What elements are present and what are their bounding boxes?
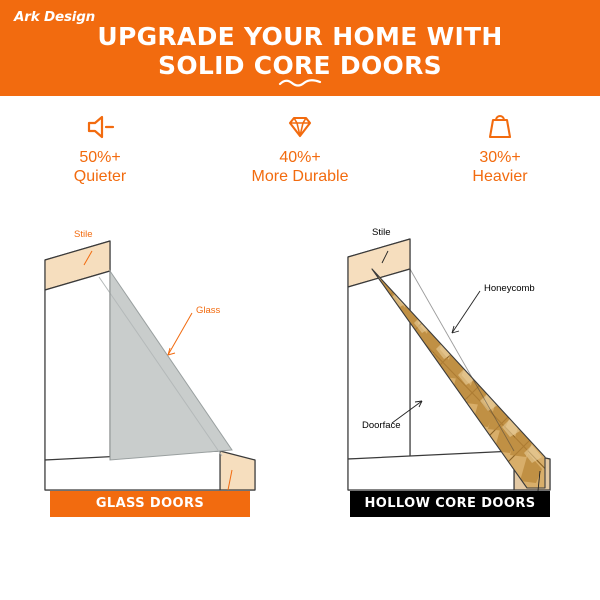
feature-heavier-value: 30%+	[400, 148, 600, 167]
weight-icon	[400, 110, 600, 144]
feature-quieter: 50%+ Quieter	[0, 110, 200, 200]
feature-durable-value: 40%+	[200, 148, 400, 167]
glass-door-caption: GLASS DOORS	[50, 491, 250, 517]
feature-quieter-value: 50%+	[0, 148, 200, 167]
feature-heavier-text: 30%+ Heavier	[400, 148, 600, 186]
wave-divider-icon	[278, 78, 322, 88]
page-header: Ark Design UPGRADE YOUR HOME WITH SOLID …	[0, 0, 600, 96]
speaker-mute-icon	[0, 110, 200, 144]
feature-quieter-label: Quieter	[0, 167, 200, 186]
feature-quieter-text: 50%+ Quieter	[0, 148, 200, 186]
feature-list: 50%+ Quieter 40%+ More Durable 30%+ Heav…	[0, 110, 600, 200]
headline-line-1: UPGRADE YOUR HOME WITH	[97, 22, 502, 51]
feature-heavier: 30%+ Heavier	[400, 110, 600, 200]
page-title: UPGRADE YOUR HOME WITH SOLID CORE DOORS	[0, 22, 600, 80]
label-stile-hollow: Stile	[372, 227, 390, 238]
hollow-core-door-panel: Stile Honeycomb Doorface Rail HOLLOW COR…	[300, 205, 600, 545]
feature-durable-label: More Durable	[200, 167, 400, 186]
hollow-core-door-illustration	[300, 205, 600, 505]
hollow-core-door-caption: HOLLOW CORE DOORS	[350, 491, 550, 517]
label-doorface: Doorface	[362, 420, 401, 431]
diagram-area: Stile Glass Rail GLASS DOORS	[0, 205, 600, 545]
diamond-icon	[200, 110, 400, 144]
feature-heavier-label: Heavier	[400, 167, 600, 186]
label-stile-glass: Stile	[74, 229, 92, 240]
label-honeycomb: Honeycomb	[484, 283, 535, 294]
feature-durable-text: 40%+ More Durable	[200, 148, 400, 186]
feature-durable: 40%+ More Durable	[200, 110, 400, 200]
glass-door-illustration	[0, 205, 300, 505]
headline-line-2: SOLID CORE DOORS	[0, 51, 600, 80]
glass-door-panel: Stile Glass Rail GLASS DOORS	[0, 205, 300, 545]
label-glass: Glass	[196, 305, 220, 316]
